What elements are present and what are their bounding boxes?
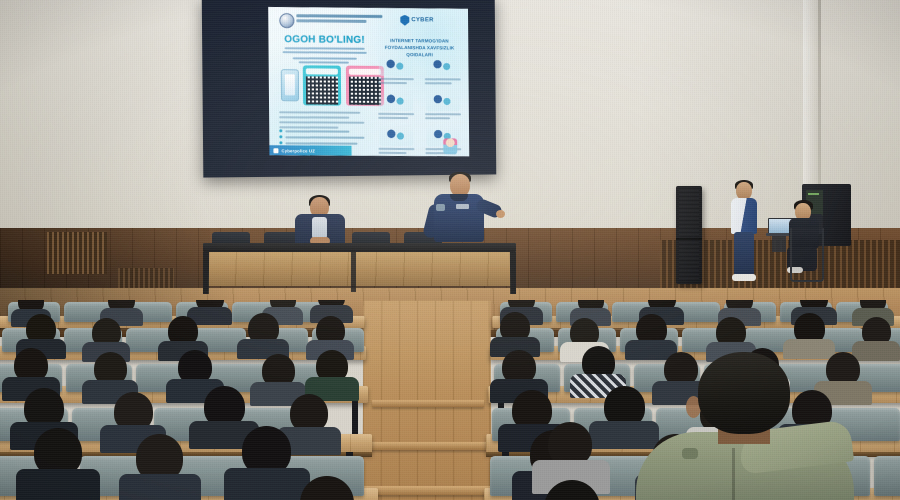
uniform-jacket [434, 194, 484, 242]
password-protection-icon [426, 54, 460, 76]
shield-icon [400, 15, 409, 26]
smartphone-icon [281, 69, 299, 101]
chest-badge-icon [456, 204, 469, 209]
slide-subline-1 [285, 47, 365, 50]
slide-footer-text: Cyberpolice UZ [281, 148, 315, 153]
slide-artwork: CYBER OGOH BO'LING! INTERNET TARMOG'IDAN… [268, 7, 469, 156]
bullet-dot-icon [279, 129, 282, 132]
right-hand [496, 210, 505, 218]
pa-speaker-icon [676, 186, 702, 284]
laptop-stand [772, 236, 786, 252]
qr-caption-telegram [306, 68, 338, 74]
phishing-link-warning-icon [379, 54, 413, 76]
slide-icon-tile [375, 124, 417, 155]
presidium-table [203, 243, 516, 291]
table-leg [510, 252, 516, 294]
secure-device-antivirus-icon [426, 89, 460, 111]
bullet-dot-icon [279, 135, 282, 138]
collar [450, 194, 468, 201]
shoes [732, 274, 756, 281]
cyber-brand-text: CYBER [411, 17, 433, 23]
slide-icon-tile [375, 54, 417, 85]
seated-official [292, 197, 348, 249]
slide-icon-tile [375, 89, 417, 120]
wall-shadow-left [0, 0, 210, 240]
foreground-student-olive-jacket [636, 352, 854, 500]
shoulder-insignia-icon [436, 204, 445, 211]
bullet-dot-icon [279, 141, 282, 144]
ministry-emblem-icon [279, 13, 294, 28]
table-leg [351, 252, 356, 292]
projection-screen: CYBER OGOH BO'LING! INTERNET TARMOG'IDAN… [202, 0, 496, 178]
seat [874, 456, 900, 496]
slide-icon-tile [422, 54, 464, 85]
table-front-panel [208, 252, 511, 286]
wall-vent-icon [47, 232, 107, 274]
pa-speaker-seam [676, 238, 702, 240]
table-leg [203, 252, 209, 294]
social-media-privacy-icon [379, 124, 413, 146]
dress-shirt [312, 217, 327, 239]
slide-headline: OGOH BO'LING! [278, 34, 370, 46]
slide-subline-3 [293, 57, 357, 59]
slide-subline-4 [299, 61, 349, 63]
trousers [734, 232, 754, 276]
qr-matrix-icon [306, 76, 338, 104]
slide-mascot-icon [443, 138, 457, 154]
slide-icon-tile [422, 89, 464, 120]
projected-slide: CYBER OGOH BO'LING! INTERNET TARMOG'IDAN… [268, 7, 469, 156]
standing-staff-member [727, 182, 761, 282]
mobile-banking-safety-icon [379, 89, 413, 111]
head [698, 352, 790, 434]
telegram-icon [273, 148, 278, 153]
table-top-edge [203, 243, 516, 252]
cyber-brand-logo: CYBER [400, 13, 460, 27]
jacket-seam [732, 448, 735, 500]
side-chair [790, 228, 824, 282]
tracksuit-jacket [731, 198, 757, 234]
slide-header: CYBER [274, 12, 462, 30]
amplifier-indicator-icon [808, 193, 819, 195]
ministry-header-line [296, 14, 382, 18]
qr-code-telegram [303, 65, 341, 105]
jacket-drawstring-icon [682, 448, 698, 459]
slide-subline-2 [283, 51, 367, 54]
ministry-header-line-2 [296, 19, 366, 23]
slide-footer: Cyberpolice UZ [269, 145, 351, 155]
lecture-hall-photo: CYBER OGOH BO'LING! INTERNET TARMOG'IDAN… [0, 0, 900, 500]
